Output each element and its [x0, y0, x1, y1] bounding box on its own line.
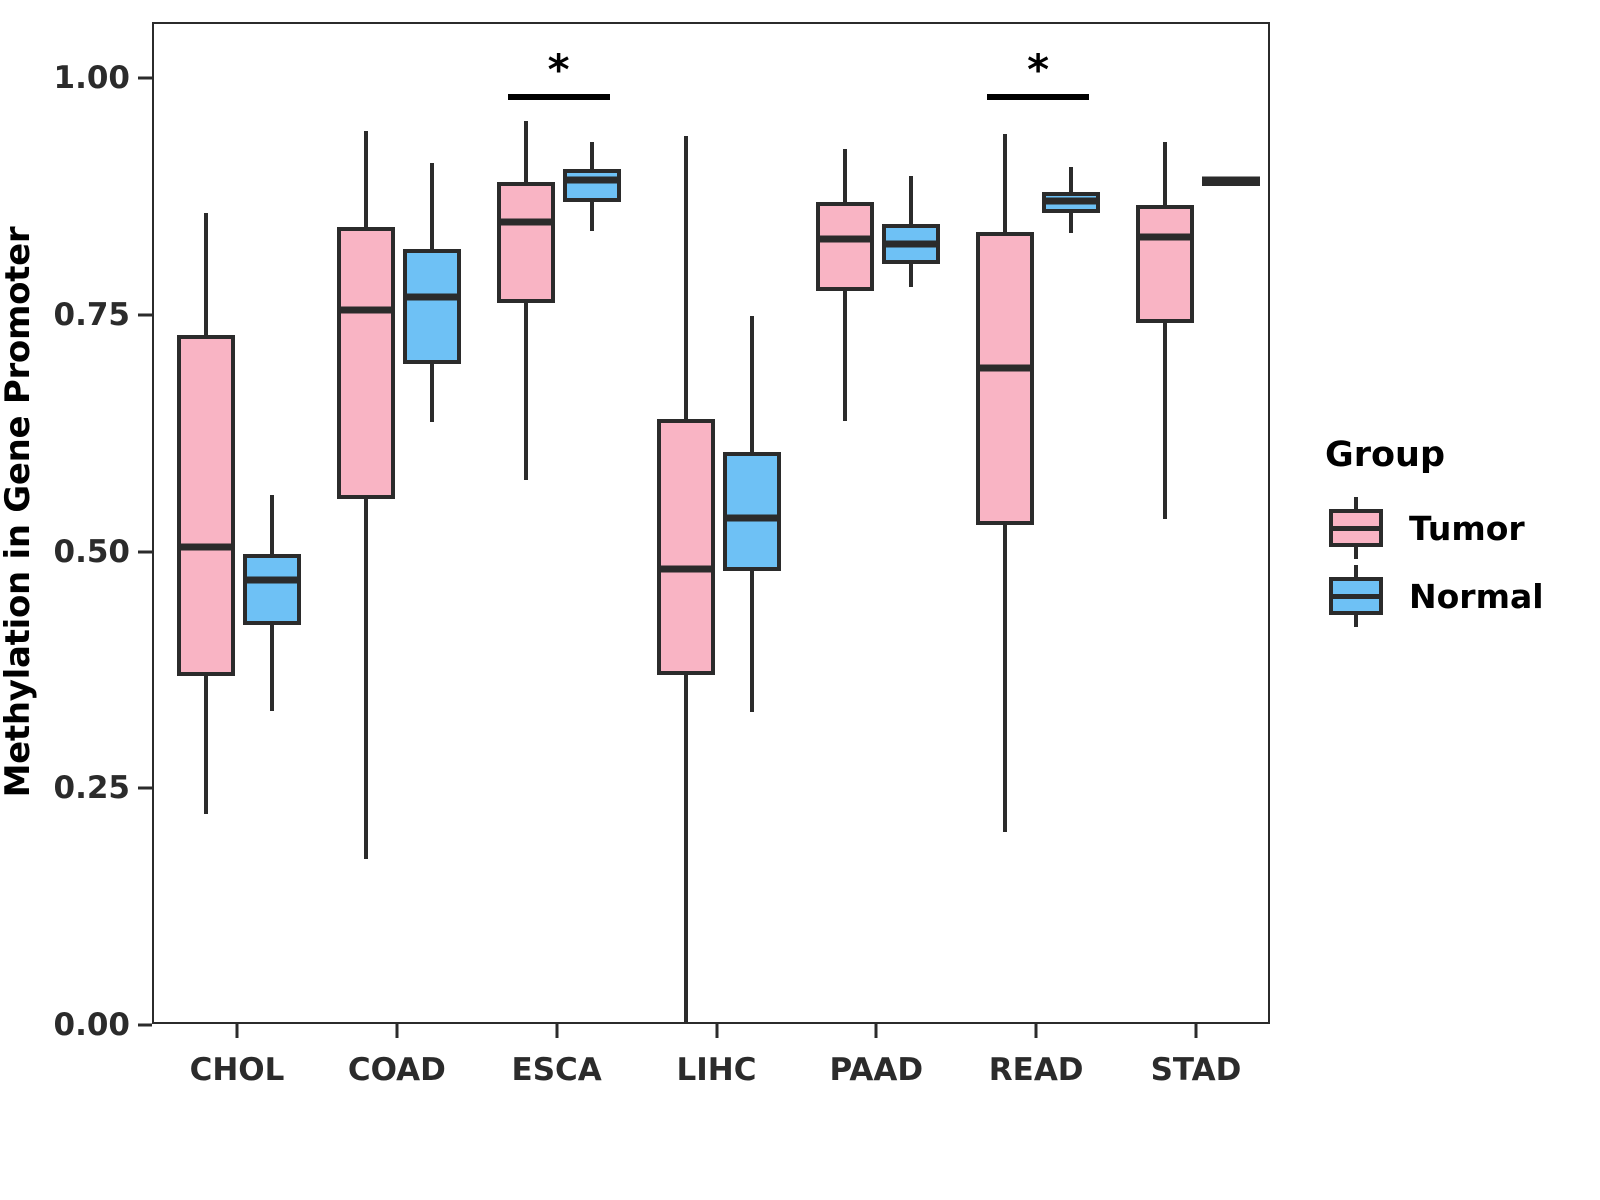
significance-bar	[508, 94, 610, 100]
y-axis-tick-label: 0.00	[54, 1007, 131, 1043]
significance-star: *	[1027, 49, 1049, 91]
y-axis-tick-mark	[138, 77, 152, 80]
x-axis-tick-mark	[395, 1024, 398, 1038]
plot-panel: **	[152, 22, 1270, 1024]
legend-item-label: Tumor	[1409, 509, 1525, 548]
x-axis-tick-mark	[236, 1024, 239, 1038]
y-axis-tick-label: 0.50	[54, 534, 131, 570]
legend-key-icon	[1325, 497, 1387, 559]
significance-bar	[987, 94, 1089, 100]
y-axis-tick-mark	[138, 787, 152, 790]
legend-items: TumorNormal	[1325, 497, 1575, 627]
x-axis-tick-mark	[875, 1024, 878, 1038]
legend-item-tumor[interactable]: Tumor	[1325, 497, 1575, 559]
legend-title: Group	[1325, 435, 1575, 475]
y-axis-tick-mark	[138, 1024, 152, 1027]
x-axis-tick-mark	[1035, 1024, 1038, 1038]
x-axis-tick-label: LIHC	[677, 1052, 757, 1088]
x-axis-tick-mark	[555, 1024, 558, 1038]
significance-star: *	[548, 49, 570, 91]
legend-item-normal[interactable]: Normal	[1325, 565, 1575, 627]
y-axis-tick-mark	[138, 313, 152, 316]
y-axis-tick-label: 0.25	[54, 770, 131, 806]
y-axis-tick-mark	[138, 550, 152, 553]
chart-root: Methylation in Gene Promoter 0.000.250.5…	[0, 0, 1600, 1200]
x-axis-tick-label: CHOL	[190, 1052, 285, 1088]
legend-key-icon	[1325, 565, 1387, 627]
x-axis-tick-label: STAD	[1151, 1052, 1242, 1088]
significance-annotations: **	[154, 24, 1268, 1022]
y-axis-tick-label: 1.00	[54, 60, 131, 96]
x-axis-tick-label: COAD	[348, 1052, 446, 1088]
y-axis-label: Methylation in Gene Promoter	[0, 162, 38, 862]
x-axis-tick-label: READ	[989, 1052, 1084, 1088]
legend: Group TumorNormal	[1325, 435, 1575, 633]
x-axis-tick-label: PAAD	[830, 1052, 924, 1088]
y-axis-tick-label: 0.75	[54, 297, 131, 333]
x-axis-tick-mark	[1195, 1024, 1198, 1038]
legend-item-label: Normal	[1409, 577, 1544, 616]
x-axis-tick-mark	[715, 1024, 718, 1038]
x-axis-tick-label: ESCA	[512, 1052, 602, 1088]
